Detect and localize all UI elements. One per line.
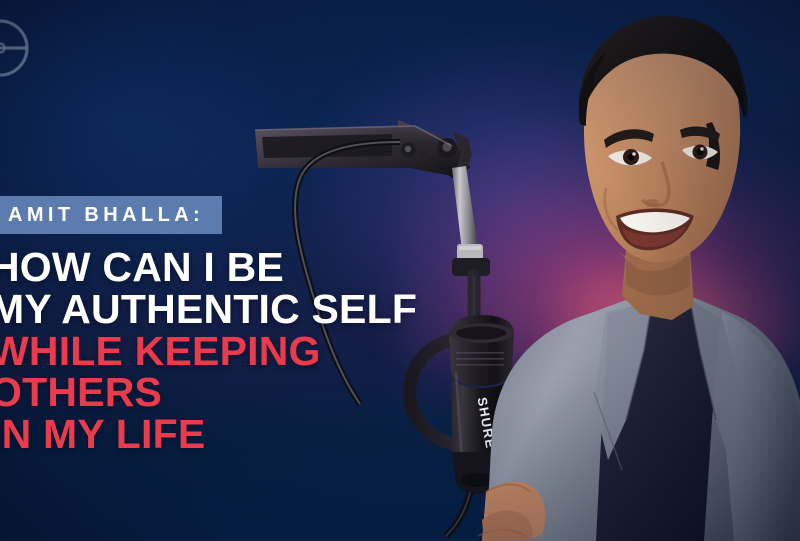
title-block: AMIT BHALLA: HOW CAN I BE MY AUTHENTIC S… [0, 196, 440, 455]
headline-line-2: MY AUTHENTIC SELF [0, 290, 440, 330]
thumbnail-canvas: SHURE [0, 0, 800, 541]
host-portrait [476, 0, 800, 541]
guest-name-badge: AMIT BHALLA: [0, 196, 222, 234]
brand-logo [0, 14, 34, 82]
headline: HOW CAN I BE MY AUTHENTIC SELF WHILE KEE… [0, 248, 440, 455]
person-illustration [476, 0, 800, 541]
headline-line-3: WHILE KEEPING [0, 332, 440, 372]
headline-line-4: OTHERS [0, 373, 440, 413]
circle-crosshair-logo-icon [0, 14, 34, 82]
headline-line-5: IN MY LIFE [0, 415, 440, 455]
headline-line-1: HOW CAN I BE [0, 248, 440, 288]
person-hand [478, 482, 545, 541]
person-head [579, 16, 748, 271]
